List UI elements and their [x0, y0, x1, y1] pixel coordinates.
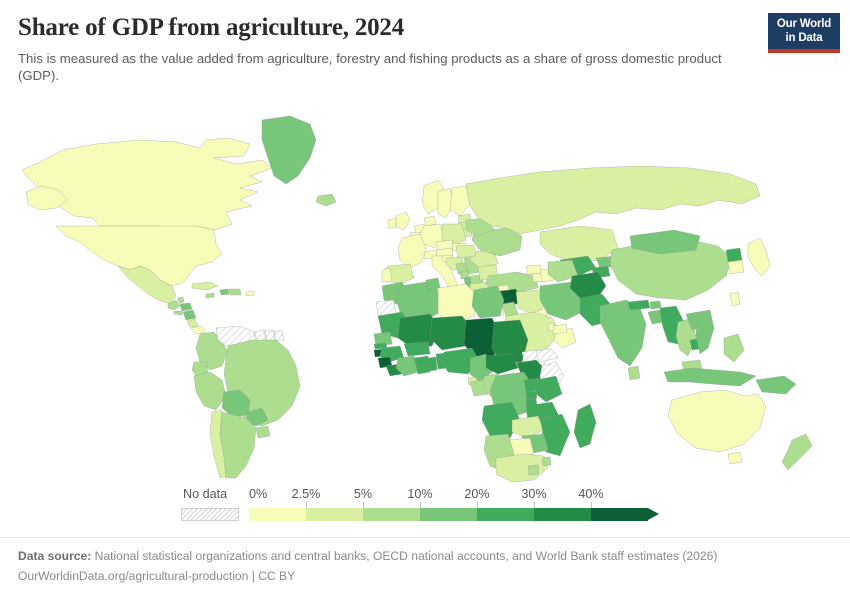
- legend-bucket-5[interactable]: [534, 508, 591, 521]
- country-tasmania[interactable]: [728, 452, 742, 464]
- legend-color-ramp[interactable]: [249, 508, 659, 521]
- chart-footer: Data source: National statistical organi…: [0, 537, 850, 586]
- country-uruguay[interactable]: [256, 426, 270, 438]
- chart-subtitle: This is measured as the value added from…: [18, 50, 753, 85]
- legend-tick-label-0: 0%: [249, 487, 267, 501]
- legend-bucket-4[interactable]: [477, 508, 534, 521]
- country-costa-rica[interactable]: [187, 319, 198, 327]
- country-iceland[interactable]: [316, 194, 336, 206]
- owid-logo[interactable]: Our World in Data: [768, 13, 840, 53]
- attribution-line[interactable]: OurWorldinData.org/agricultural-producti…: [18, 567, 832, 587]
- data-source-line: Data source: National statistical organi…: [18, 547, 832, 567]
- legend-tick-mark-5: [534, 502, 535, 508]
- country-russia[interactable]: [466, 166, 760, 234]
- country-jamaica[interactable]: [206, 293, 214, 298]
- country-vietnam[interactable]: [696, 310, 714, 354]
- country-indonesia[interactable]: [664, 368, 756, 386]
- data-source-text: National statistical organizations and c…: [95, 549, 718, 563]
- country-nepal[interactable]: [628, 300, 650, 310]
- country-south-africa[interactable]: [496, 454, 548, 482]
- country-papua-new-guinea[interactable]: [756, 376, 796, 394]
- country-el-salvador[interactable]: [174, 311, 182, 315]
- world-choropleth-map[interactable]: [0, 100, 850, 485]
- map-legend: No data 0%2.5%5%10%20%30%40%: [0, 487, 850, 537]
- country-ireland[interactable]: [388, 218, 396, 228]
- country-north-korea[interactable]: [726, 248, 742, 262]
- country-united-kingdom[interactable]: [396, 212, 410, 230]
- country-taiwan[interactable]: [730, 292, 740, 306]
- country-georgia[interactable]: [526, 265, 542, 274]
- chart-header: Share of GDP from agriculture, 2024 This…: [18, 14, 832, 85]
- country-sri-lanka[interactable]: [628, 366, 640, 380]
- country-qatar[interactable]: [548, 323, 554, 331]
- country-haiti[interactable]: [220, 289, 229, 295]
- country-cyprus[interactable]: [498, 285, 509, 291]
- legend-tick-mark-2: [363, 502, 364, 508]
- country-nicaragua[interactable]: [183, 310, 196, 320]
- country-french-guiana[interactable]: [274, 331, 284, 341]
- legend-bucket-2[interactable]: [363, 508, 420, 521]
- country-eswatini[interactable]: [542, 457, 551, 466]
- country-rwanda[interactable]: [526, 391, 537, 399]
- country-philippines[interactable]: [724, 334, 744, 362]
- country-panama[interactable]: [191, 326, 206, 334]
- legend-tick-mark-6: [591, 502, 592, 508]
- country-greenland[interactable]: [262, 116, 316, 184]
- legend-no-data-label: No data: [183, 487, 227, 501]
- legend-bucket-6[interactable]: [591, 508, 648, 521]
- country-cuba[interactable]: [192, 282, 218, 290]
- country-burkina-faso[interactable]: [404, 342, 430, 356]
- legend-bucket-0[interactable]: [249, 508, 306, 521]
- country-puerto-rico[interactable]: [246, 291, 254, 296]
- country-belize[interactable]: [178, 297, 184, 303]
- legend-no-data-swatch[interactable]: [181, 508, 239, 521]
- legend-arrow-icon: [648, 508, 659, 520]
- country-india[interactable]: [600, 300, 646, 366]
- country-new-zealand[interactable]: [782, 434, 812, 470]
- legend-bucket-1[interactable]: [306, 508, 363, 521]
- legend-tick-mark-3: [420, 502, 421, 508]
- legend-tick-label-2: 5%: [354, 487, 372, 501]
- country-togo[interactable]: [428, 357, 437, 371]
- owid-logo-line2: in Data: [768, 31, 840, 45]
- country-kazakhstan[interactable]: [540, 226, 618, 262]
- legend-tick-mark-4: [477, 502, 478, 508]
- country-suriname[interactable]: [265, 330, 275, 341]
- country-canada[interactable]: [22, 138, 272, 230]
- country-lesotho[interactable]: [528, 465, 539, 475]
- owid-logo-line1: Our World: [768, 17, 840, 31]
- country-hungary[interactable]: [456, 245, 476, 258]
- country-south-korea[interactable]: [728, 260, 744, 274]
- country-france[interactable]: [398, 234, 426, 268]
- data-source-label: Data source:: [18, 549, 91, 563]
- legend-bucket-3[interactable]: [420, 508, 477, 521]
- legend-tick-label-4: 20%: [464, 487, 489, 501]
- country-denmark[interactable]: [424, 216, 436, 226]
- legend-tick-mark-1: [306, 502, 307, 508]
- legend-tick-label-6: 40%: [578, 487, 603, 501]
- country-madagascar[interactable]: [574, 404, 596, 448]
- chart-container: Share of GDP from agriculture, 2024 This…: [0, 0, 850, 600]
- country-finland[interactable]: [450, 186, 470, 216]
- country-dominican-republic[interactable]: [229, 289, 241, 295]
- country-peru[interactable]: [194, 372, 226, 410]
- legend-tick-label-3: 10%: [407, 487, 432, 501]
- country-japan[interactable]: [748, 238, 770, 276]
- page-title: Share of GDP from agriculture, 2024: [18, 14, 832, 43]
- legend-tick-label-5: 30%: [521, 487, 546, 501]
- country-bhutan[interactable]: [650, 301, 661, 309]
- country-honduras[interactable]: [180, 303, 192, 311]
- legend-tick-label-1: 2.5%: [292, 487, 321, 501]
- map-svg[interactable]: [0, 100, 850, 485]
- country-australia[interactable]: [668, 390, 766, 452]
